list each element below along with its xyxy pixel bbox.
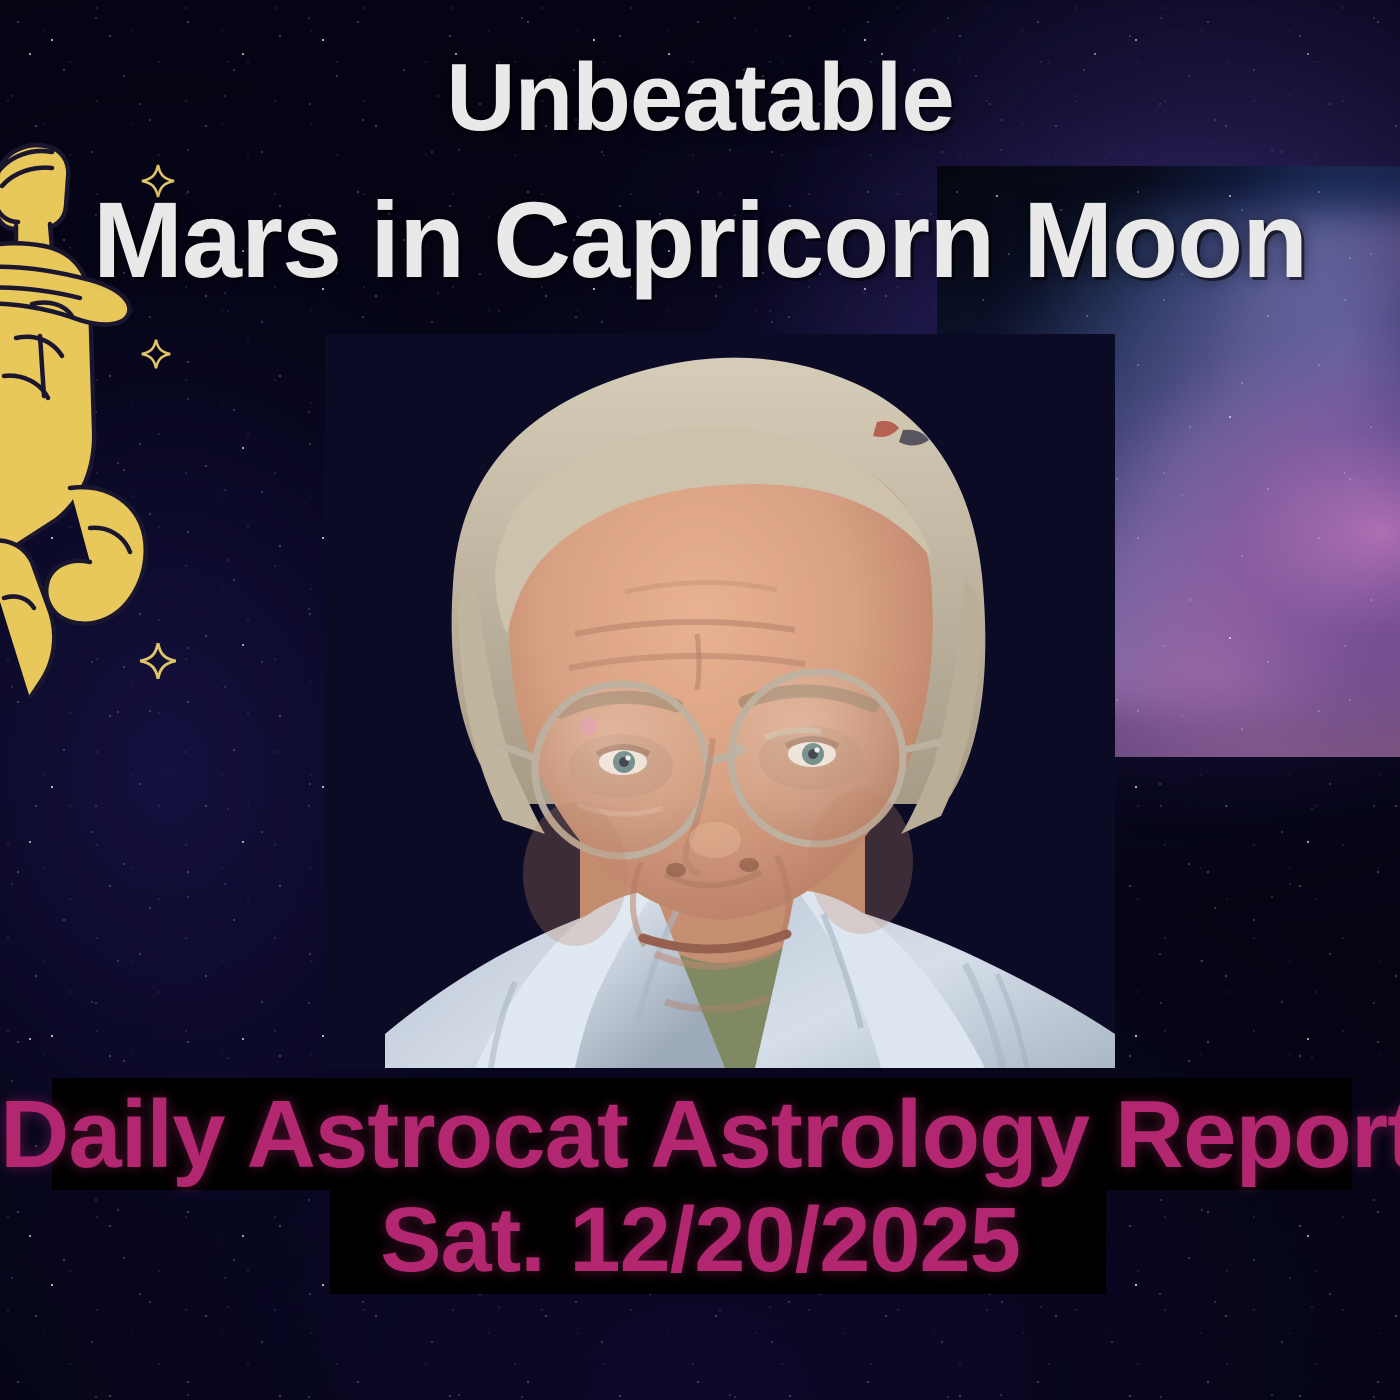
host-portrait-photo — [325, 334, 1115, 1068]
sparkle-star-icon-3 — [138, 641, 178, 686]
title-line-2: Mars in Capricorn Moon — [0, 183, 1400, 296]
subtitle-line-1: Daily Astrocat Astrology Report — [0, 1085, 1400, 1186]
subtitle-line-2: Sat. 12/20/2025 — [0, 1192, 1400, 1289]
cover-art-canvas: Unbeatable Mars in Capricorn Moon Daily … — [0, 0, 1400, 1400]
sparkle-star-icon-2 — [140, 338, 172, 375]
title-line-1: Unbeatable — [0, 48, 1400, 149]
